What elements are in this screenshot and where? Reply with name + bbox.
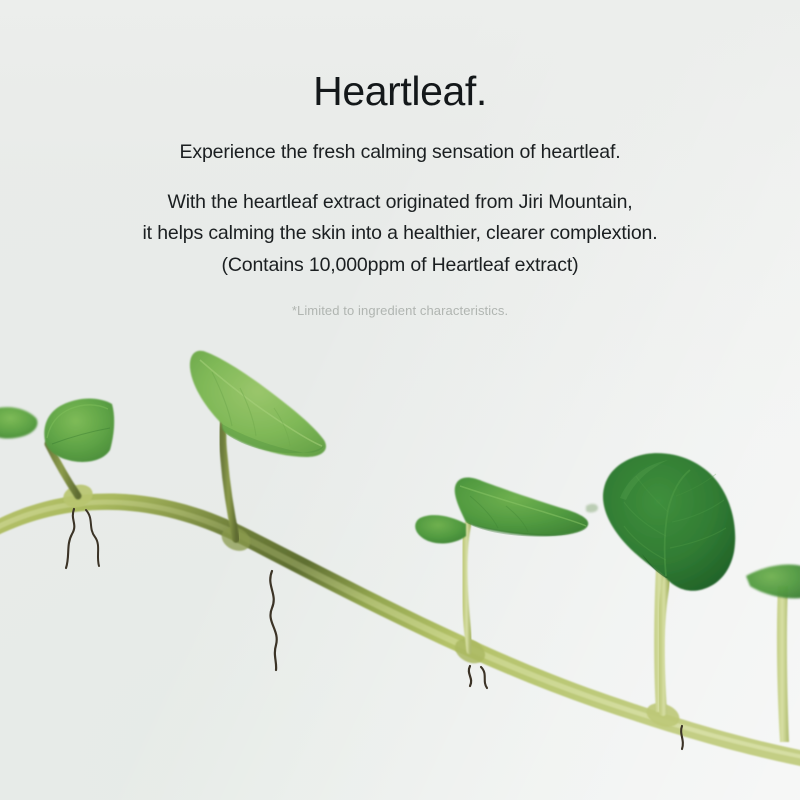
- leaf-center-tall: [190, 351, 326, 539]
- leaf-right-large: [603, 453, 735, 712]
- body-line-2: it helps calming the skin into a healthi…: [142, 222, 657, 244]
- leaf-left-small: [0, 399, 114, 497]
- footnote-text: *Limited to ingredient characteristics.: [0, 282, 800, 318]
- lede-text: Experience the fresh calming sensation o…: [0, 115, 800, 164]
- body-copy: With the heartleaf extract originated fr…: [0, 164, 800, 282]
- leaf-middle: [415, 478, 588, 651]
- marketing-text-block: Heartleaf. Experience the fresh calming …: [0, 0, 800, 318]
- body-line-1: With the heartleaf extract originated fr…: [167, 191, 632, 213]
- leaf-right-edge-fragment: [746, 564, 800, 598]
- root-tendrils: [66, 509, 683, 749]
- page-title: Heartleaf.: [0, 0, 800, 115]
- branch-stem-right-outer: [777, 586, 789, 742]
- background-speck: [586, 504, 598, 513]
- product-ingredient-panel: Heartleaf. Experience the fresh calming …: [0, 0, 800, 800]
- body-line-3: (Contains 10,000ppm of Heartleaf extract…: [222, 254, 579, 276]
